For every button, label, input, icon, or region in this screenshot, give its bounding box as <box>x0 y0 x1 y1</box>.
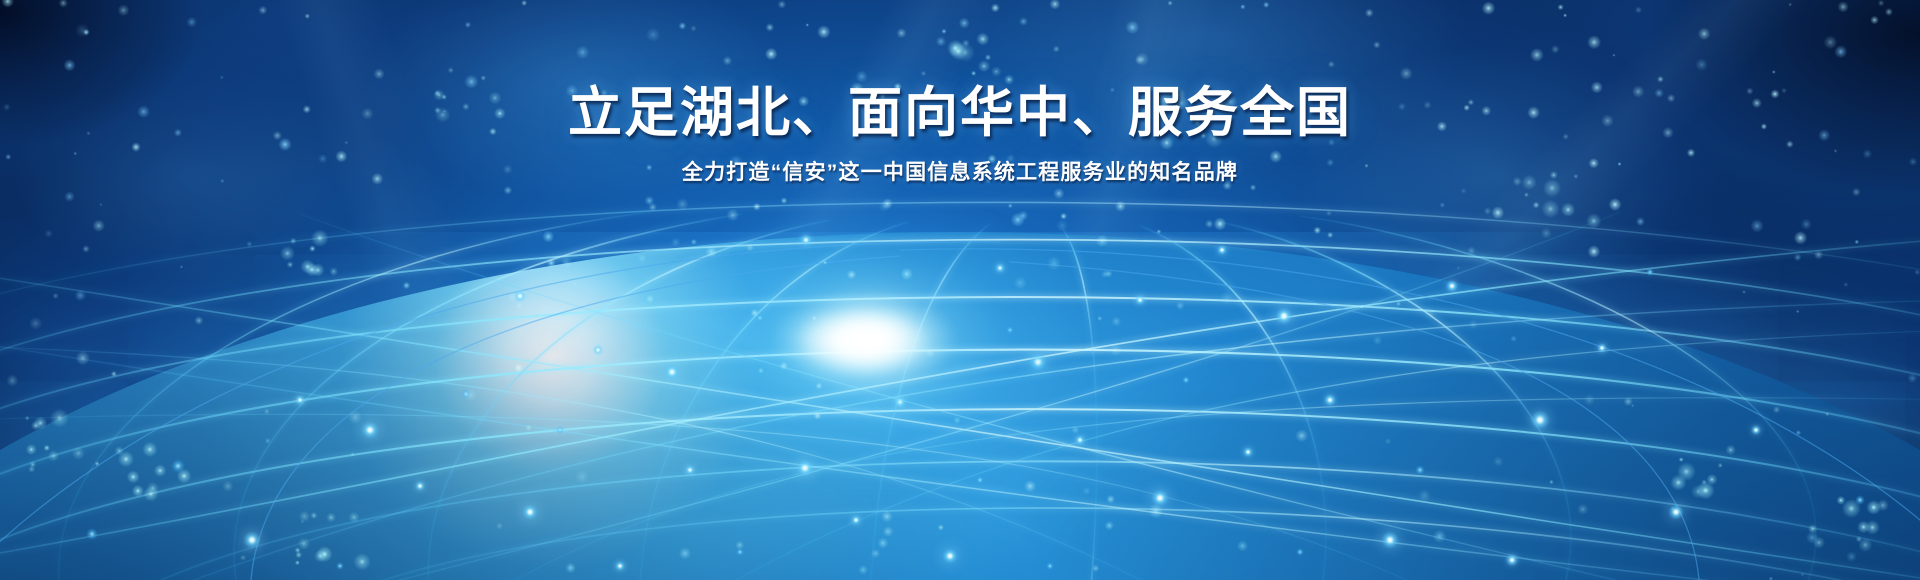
page-title: 立足湖北、面向华中、服务全国 <box>0 0 1920 142</box>
banner-copy: 立足湖北、面向华中、服务全国 全力打造“信安”这一中国信息系统工程服务业的知名品… <box>0 0 1920 187</box>
hero-banner: 立足湖北、面向华中、服务全国 全力打造“信安”这一中国信息系统工程服务业的知名品… <box>0 0 1920 580</box>
page-subtitle: 全力打造“信安”这一中国信息系统工程服务业的知名品牌 <box>0 142 1920 186</box>
